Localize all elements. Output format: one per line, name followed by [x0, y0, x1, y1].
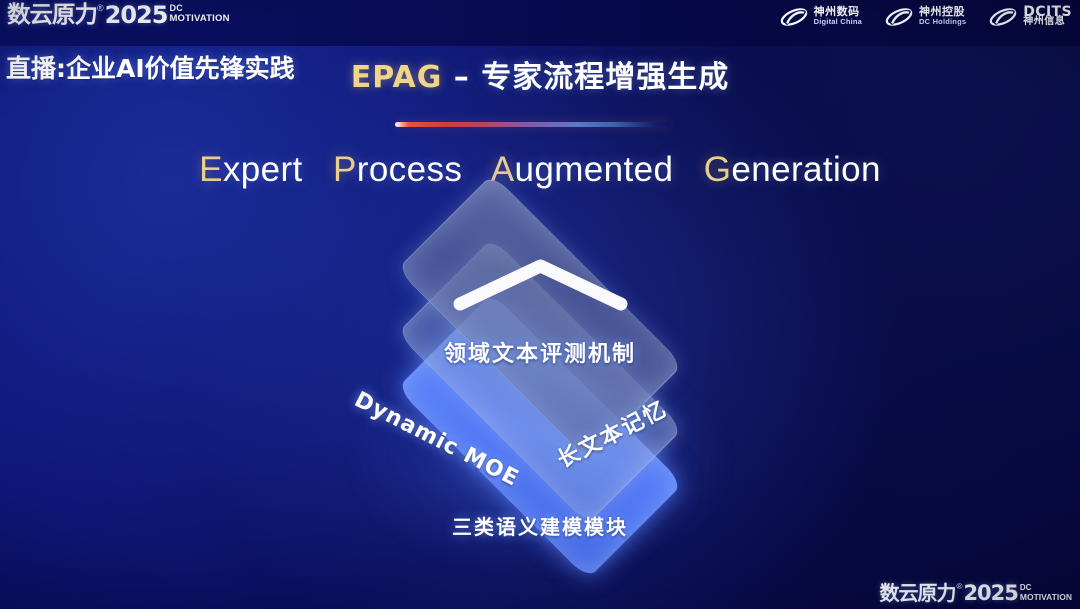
swirl-logo-icon — [779, 6, 809, 28]
partner-name-cn: 神州控股 — [919, 7, 966, 18]
subtitle-space — [683, 150, 693, 189]
brand-year: 2025 — [105, 2, 168, 28]
watermark-motivation-label: MOTIVATION — [1020, 593, 1072, 602]
partner-text-digital-china: 神州数码 Digital China — [814, 7, 862, 28]
subtitle-rest: ugmented — [514, 150, 673, 189]
swirl-logo-icon — [988, 6, 1018, 28]
subtitle-initial: G — [704, 150, 732, 189]
subtitle-initial: E — [199, 150, 223, 189]
subtitle-word-process: Process — [333, 150, 462, 189]
headline-chinese: 专家流程增强生成 — [481, 60, 729, 95]
brand-motivation-label: MOTIVATION — [169, 14, 229, 24]
subtitle-rest: eneration — [731, 150, 881, 189]
swirl-logo-icon — [884, 6, 914, 28]
slide-canvas: 数云原力 ® 2025 DC MOTIVATION 直播:企业AI价值先锋实践 … — [0, 0, 1080, 609]
brand-name-cn: 数云原力 — [7, 2, 97, 28]
partner-logo-dcits: DCITS 神州信息 — [988, 6, 1072, 28]
partner-logo-digital-china: 神州数码 Digital China — [779, 6, 862, 28]
partner-logo-dc-holdings: 神州控股 DC Holdings — [884, 6, 966, 28]
subtitle-rest: xpert — [223, 150, 303, 189]
footer-watermark: 数云原力 ® 2025 DC MOTIVATION — [880, 582, 1072, 605]
subtitle-word-generation: Generation — [704, 150, 881, 189]
partner-name-cn: 神州信息 — [1023, 17, 1072, 28]
watermark-registered-mark: ® — [957, 582, 963, 591]
slide-subtitle: Expert Process Augmented Generation — [0, 150, 1080, 190]
brand-registered-mark: ® — [97, 3, 104, 14]
subtitle-rest: rocess — [357, 150, 463, 189]
brand-dc-motivation: DC MOTIVATION — [169, 4, 229, 23]
subtitle-word-augmented: Augmented — [491, 150, 674, 189]
subtitle-space — [313, 150, 323, 189]
gradient-divider — [395, 122, 670, 127]
partner-name-en: Digital China — [814, 17, 862, 28]
partner-name-en: DC Holdings — [919, 17, 966, 28]
slide-headline: EPAG – 专家流程增强生成 — [0, 52, 1080, 96]
headline-separator: – — [442, 60, 481, 95]
subtitle-word-expert: Expert — [199, 150, 303, 189]
partner-text-dc-holdings: 神州控股 DC Holdings — [919, 7, 966, 28]
partner-text-dcits: DCITS 神州信息 — [1023, 7, 1072, 28]
headline-acronym: EPAG — [351, 60, 443, 95]
partner-logo-group: 神州数码 Digital China 神州控股 DC Holdings — [779, 6, 1072, 28]
watermark-dc-motivation: DC MOTIVATION — [1020, 584, 1072, 601]
brand-logo: 数云原力 ® 2025 DC MOTIVATION — [8, 2, 230, 30]
partner-name-cn: 神州数码 — [814, 7, 862, 18]
subtitle-initial: P — [333, 150, 357, 189]
watermark-year: 2025 — [963, 582, 1017, 605]
layered-architecture-diagram: 领域文本评测机制 Dynamic MOE 长文本记忆 三类语义建模模块 — [290, 226, 790, 566]
watermark-name-cn: 数云原力 — [880, 582, 956, 605]
